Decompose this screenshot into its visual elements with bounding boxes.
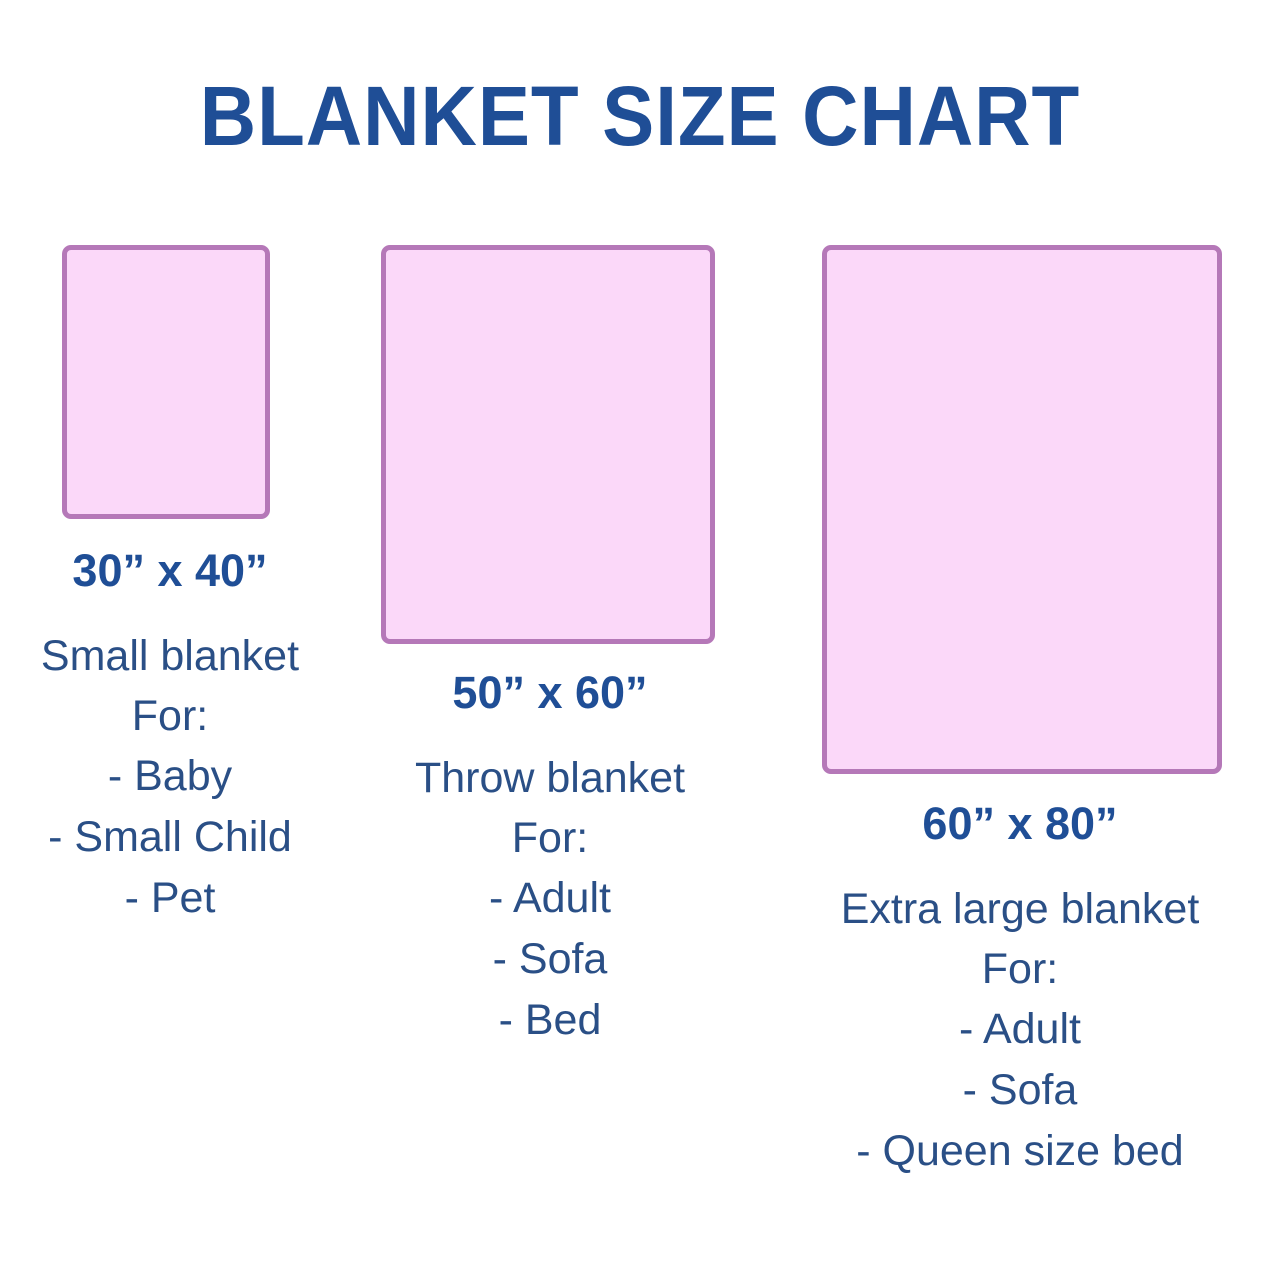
- size-details-small: 30” x 40” Small blanket For: - Baby - Sm…: [0, 540, 340, 929]
- dimension-label-extra-large: 60” x 80”: [760, 793, 1280, 855]
- list-item: - Queen size bed: [760, 1121, 1280, 1182]
- list-item: - Adult: [760, 999, 1280, 1060]
- size-columns: 30” x 40” Small blanket For: - Baby - Sm…: [0, 0, 1280, 1280]
- blanket-type-throw: Throw blanket: [340, 748, 760, 808]
- blanket-swatch-extra-large-wrap: [822, 245, 1222, 774]
- dimension-label-small: 30” x 40”: [0, 540, 340, 602]
- blanket-type-extra-large: Extra large blanket: [760, 879, 1280, 939]
- list-item: - Bed: [340, 990, 760, 1051]
- use-list-small: - Baby - Small Child - Pet: [0, 746, 340, 929]
- for-label-small: For:: [0, 686, 340, 746]
- dimension-label-throw: 50” x 60”: [340, 662, 760, 724]
- for-label-throw: For:: [340, 808, 760, 868]
- use-list-throw: - Adult - Sofa - Bed: [340, 868, 760, 1051]
- blanket-swatch-small-wrap: [62, 245, 270, 519]
- blanket-swatch-extra-large: [822, 245, 1222, 774]
- list-item: - Pet: [0, 868, 340, 929]
- size-details-throw: 50” x 60” Throw blanket For: - Adult - S…: [340, 662, 760, 1051]
- for-label-extra-large: For:: [760, 939, 1280, 999]
- size-details-extra-large: 60” x 80” Extra large blanket For: - Adu…: [760, 793, 1280, 1182]
- list-item: - Adult: [340, 868, 760, 929]
- blanket-swatch-throw: [381, 245, 715, 644]
- use-list-extra-large: - Adult - Sofa - Queen size bed: [760, 999, 1280, 1182]
- blanket-swatch-throw-wrap: [381, 245, 715, 644]
- blanket-type-small: Small blanket: [0, 626, 340, 686]
- blanket-swatch-small: [62, 245, 270, 519]
- list-item: - Baby: [0, 746, 340, 807]
- list-item: - Small Child: [0, 807, 340, 868]
- list-item: - Sofa: [760, 1060, 1280, 1121]
- list-item: - Sofa: [340, 929, 760, 990]
- blanket-size-chart: BLANKET SIZE CHART 30” x 40” Small blank…: [0, 0, 1280, 1280]
